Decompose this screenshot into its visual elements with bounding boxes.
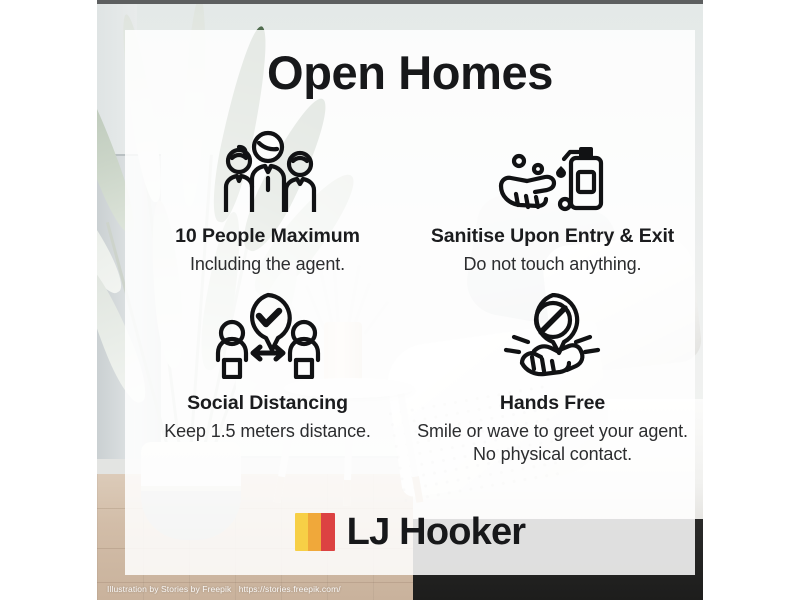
info-overlay-card: Open Homes	[125, 30, 695, 575]
tile-subtitle-line: No physical contact.	[410, 443, 695, 466]
tile-subtitle-line: Keep 1.5 meters distance.	[125, 420, 410, 443]
logo-wordmark: LJ Hooker	[347, 513, 526, 551]
no-handshake-icon	[410, 293, 695, 379]
tile-heading: Sanitise Upon Entry & Exit	[410, 225, 695, 248]
tile-heading: Hands Free	[410, 392, 695, 415]
tile-heading: 10 People Maximum	[125, 225, 410, 248]
tile-subtitle-line: Smile or wave to greet your agent.	[410, 420, 695, 443]
tile-heading: Social Distancing	[125, 392, 410, 415]
tile-social-distancing: Social Distancing Keep 1.5 meters distan…	[125, 293, 410, 443]
tile-hands-free: Hands Free Smile or wave to greet your a…	[410, 293, 695, 466]
freepik-credit: Illustration by Stories by Freepik https…	[107, 584, 341, 594]
lj-hooker-logo: LJ Hooker	[125, 513, 695, 551]
social-distancing-icon	[125, 293, 410, 379]
tile-subtitle-line: Do not touch anything.	[410, 253, 695, 276]
tile-people-maximum: 10 People Maximum Including the agent.	[125, 126, 410, 276]
three-people-icon	[125, 126, 410, 212]
poster-screen: Open Homes	[0, 0, 800, 600]
hand-sanitiser-icon	[410, 126, 695, 212]
tile-subtitle-line: Including the agent.	[125, 253, 410, 276]
tile-sanitise: Sanitise Upon Entry & Exit Do not touch …	[410, 126, 695, 276]
page-title: Open Homes	[125, 47, 695, 99]
lj-hooker-bars-icon	[295, 513, 335, 551]
